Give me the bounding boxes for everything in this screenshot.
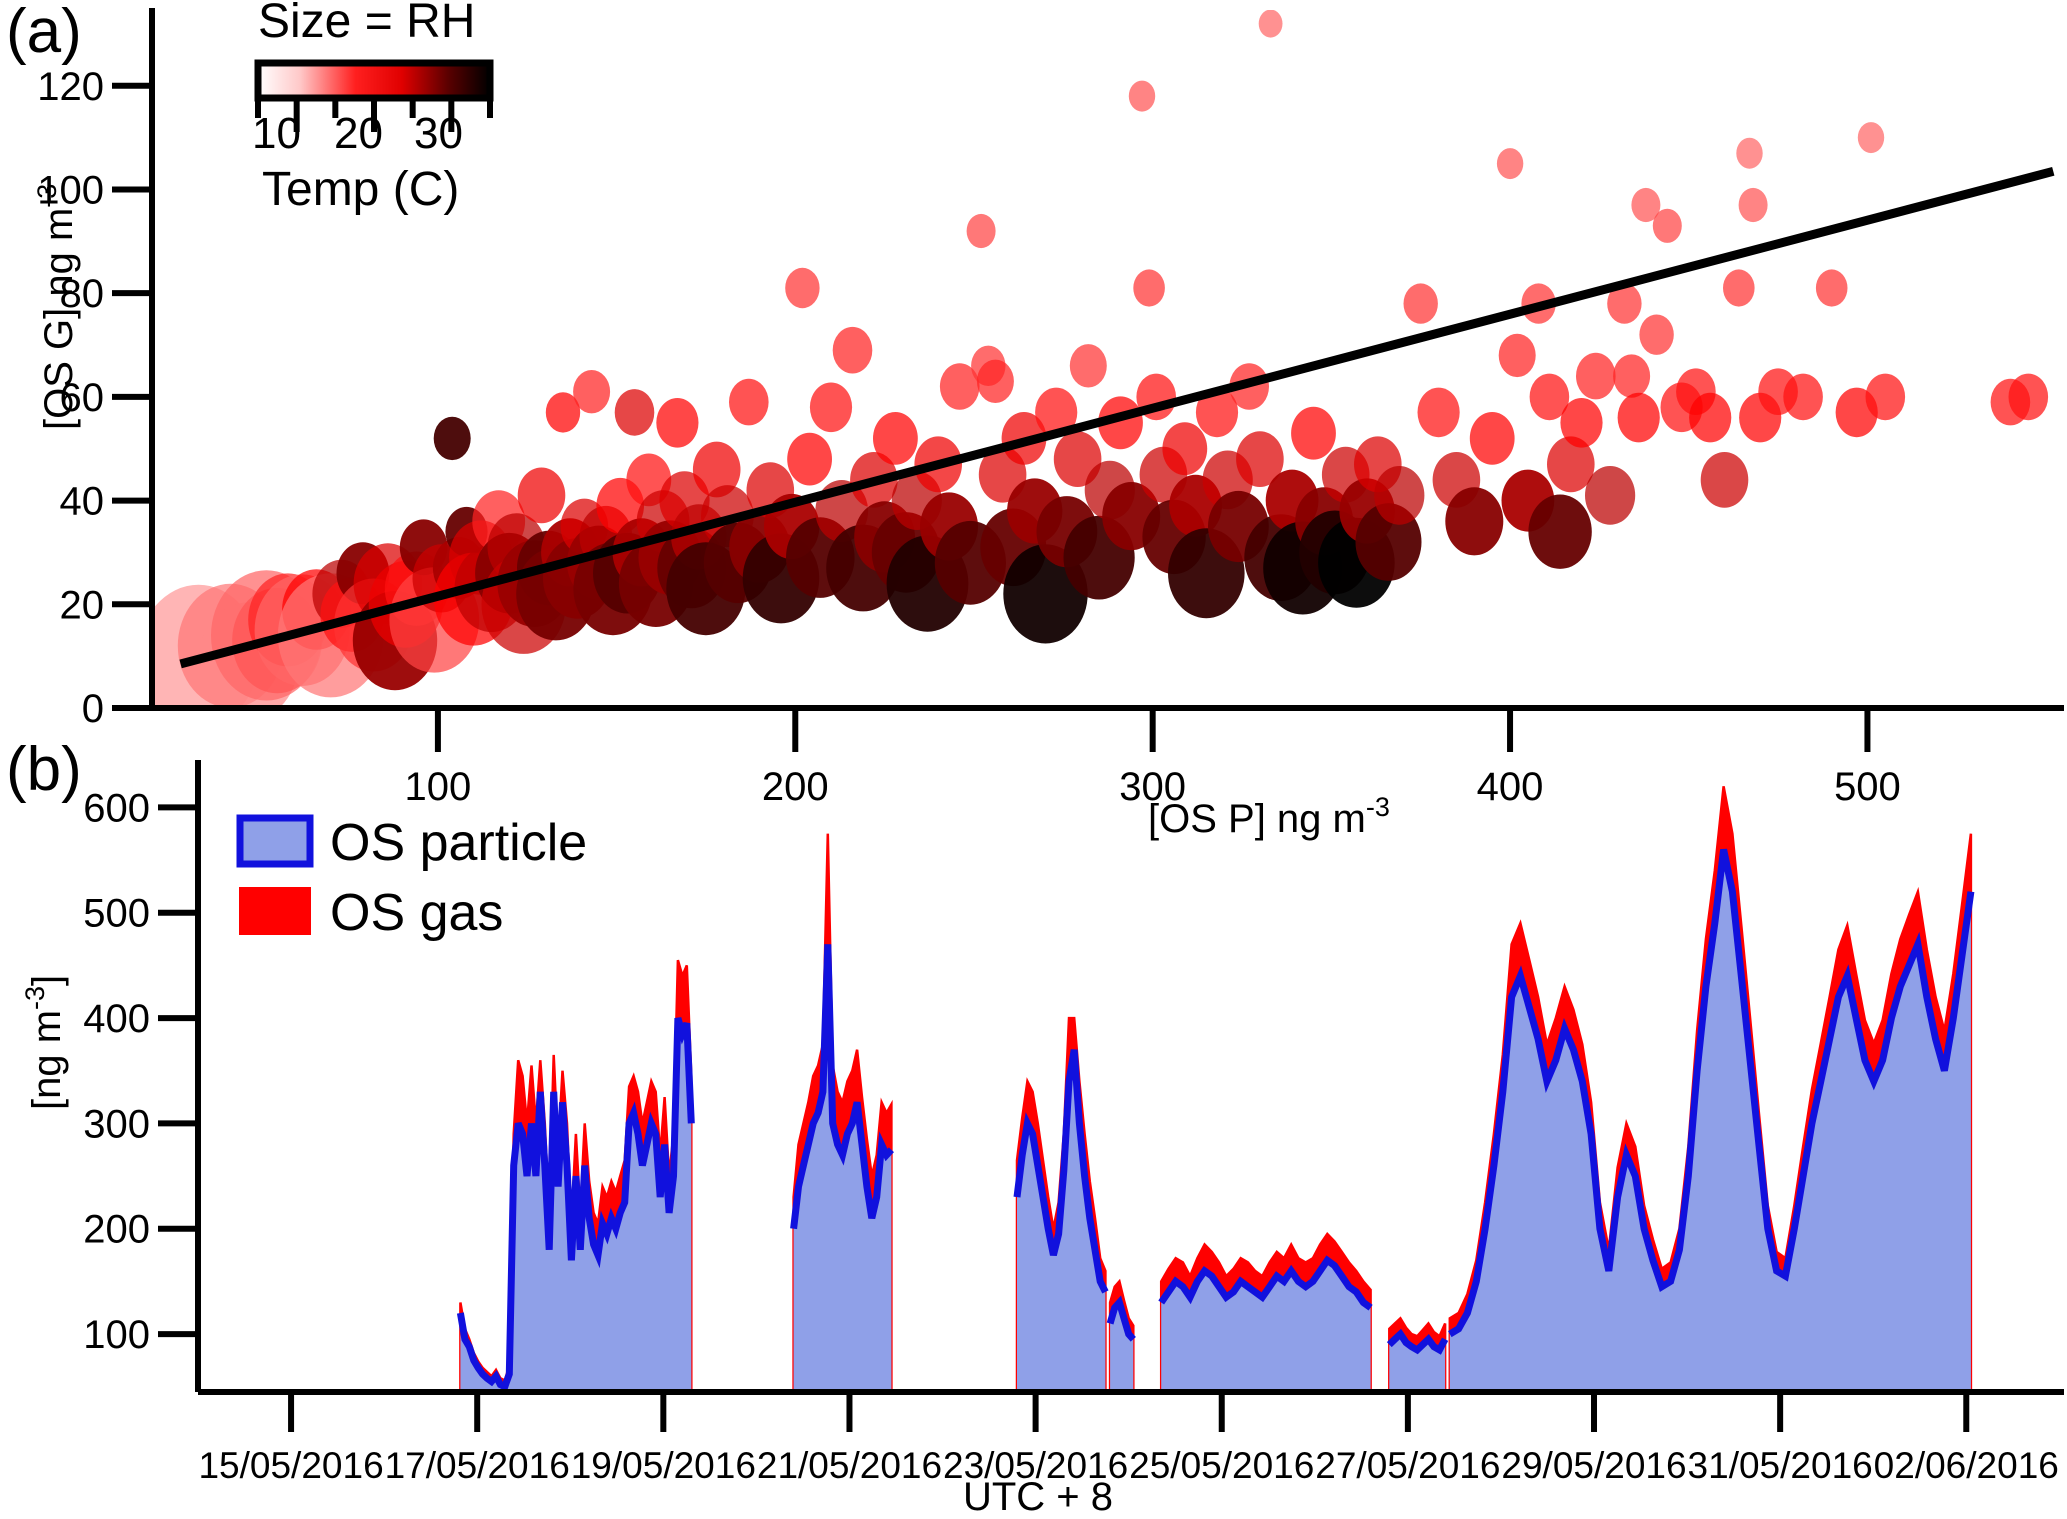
- panel-b-y-title-tail: ]: [25, 975, 69, 986]
- panel-b-x-axis-title: UTC + 8: [963, 1475, 1113, 1519]
- legend-label-os-particle: OS particle: [330, 814, 587, 872]
- svg-text:20: 20: [60, 583, 105, 627]
- legend-label-os-gas: OS gas: [330, 884, 503, 942]
- svg-text:200: 200: [762, 765, 829, 809]
- svg-text:02/06/2016: 02/06/2016: [1874, 1445, 2059, 1486]
- svg-text:500: 500: [83, 892, 150, 936]
- svg-text:17/05/2016: 17/05/2016: [385, 1445, 570, 1486]
- svg-text:500: 500: [1834, 765, 1901, 809]
- svg-text:19/05/2016: 19/05/2016: [571, 1445, 756, 1486]
- svg-text:100: 100: [83, 1313, 150, 1357]
- svg-text:27/05/2016: 27/05/2016: [1315, 1445, 1500, 1486]
- colorbar-tick-label-10: 10: [252, 109, 301, 158]
- svg-text:400: 400: [1477, 765, 1544, 809]
- svg-text:31/05/2016: 31/05/2016: [1688, 1445, 1873, 1486]
- panel-a-x-title-base: [OS P] ng m: [1148, 797, 1366, 841]
- panel-a-y-title-base: [OS G] ng m: [37, 208, 81, 430]
- figure-root: (a) 020406080100120 100200300400500 [OS …: [0, 0, 2067, 1519]
- svg-text:100: 100: [405, 765, 472, 809]
- svg-text:21/05/2016: 21/05/2016: [757, 1445, 942, 1486]
- panel-a-y-axis-title: [OS G] ng m-3: [32, 184, 81, 430]
- colorbar-size-title: Size = RH: [258, 0, 475, 48]
- svg-text:15/05/2016: 15/05/2016: [198, 1445, 383, 1486]
- colorbar-axis-title: Temp (C): [262, 163, 459, 216]
- legend-swatch-os-particle: [240, 818, 310, 864]
- svg-text:40: 40: [60, 480, 105, 524]
- panel-a-y-title-sup: -3: [32, 184, 62, 208]
- panel-a-letter: (a): [6, 0, 82, 66]
- svg-text:300: 300: [83, 1102, 150, 1146]
- panel-b-y-title-sup: -3: [20, 986, 50, 1010]
- figure-canvas: (a) 020406080100120 100200300400500 [OS …: [0, 0, 2067, 1519]
- svg-text:400: 400: [83, 997, 150, 1041]
- svg-text:600: 600: [83, 786, 150, 830]
- colorbar-tick-label-30: 30: [414, 109, 463, 158]
- svg-text:0: 0: [82, 687, 104, 731]
- svg-text:120: 120: [37, 65, 104, 109]
- svg-text:25/05/2016: 25/05/2016: [1129, 1445, 1314, 1486]
- svg-text:200: 200: [83, 1208, 150, 1252]
- colorbar-tick-label-20: 20: [334, 109, 383, 158]
- colorbar-gradient-bar: [258, 63, 490, 98]
- panel-a-x-title-sup: -3: [1366, 792, 1390, 822]
- legend-swatch-os-gas: [240, 888, 310, 934]
- svg-text:29/05/2016: 29/05/2016: [1501, 1445, 1686, 1486]
- svg-text:[OS G] ng m-3: [OS G] ng m-3: [32, 184, 81, 430]
- panel-b-y-title-base: [ng m: [25, 1010, 69, 1110]
- panel-b-letter: (b): [6, 735, 82, 804]
- panel-a-x-axis-title: [OS P] ng m-3: [1148, 792, 1390, 841]
